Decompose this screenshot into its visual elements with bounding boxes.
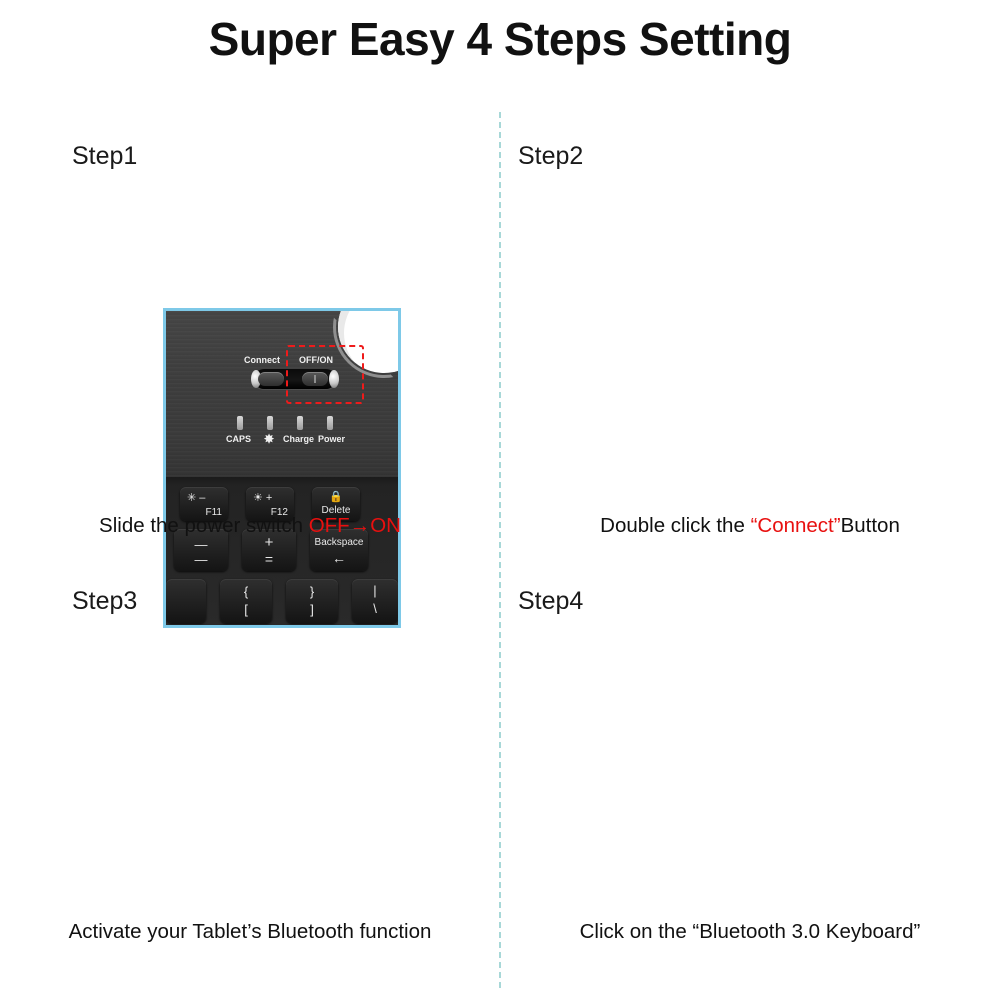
caption-highlight-2: “Connect”	[751, 514, 841, 537]
led-label-charge: Charge	[283, 434, 314, 444]
caption-prefix-2: Double click the	[600, 514, 750, 537]
highlight-box-offon	[286, 345, 364, 404]
key-icon-brightness-down: ✳ –	[187, 491, 205, 504]
caption-text-4: Click on the “Bluetooth 3.0 Keyboard”	[580, 920, 921, 943]
led-label-power: Power	[318, 434, 345, 444]
key-icon-brightness-up: ☀ +	[253, 491, 272, 504]
step-label-3: Step3	[72, 587, 137, 616]
lock-icon: 🔒	[312, 490, 360, 503]
key-label-minus: —	[174, 552, 228, 567]
led-power	[327, 416, 333, 430]
key-label-equals: =	[242, 551, 296, 567]
led-label-caps: CAPS	[226, 434, 251, 444]
step-cell-1: Step1 Connect OFF/ON	[0, 130, 500, 560]
page-title: Super Easy 4 Steps Setting	[0, 12, 1000, 66]
connect-knob[interactable]	[258, 372, 284, 386]
step-label-4: Step4	[518, 587, 583, 616]
backspace-arrow-icon: ←	[310, 550, 368, 566]
step-caption-3: Activate your Tablet’s Bluetooth functio…	[0, 920, 500, 944]
step-caption-4: Click on the “Bluetooth 3.0 Keyboard”	[500, 920, 1000, 944]
step-cell-3: Step3 ●●●○○ 中国移动 ▲ 16:38 ◎ ◑ 52%	[0, 575, 500, 990]
caption-prefix-1: Slide the power switch	[99, 514, 309, 537]
caption-highlight-1: OFF→ON	[309, 514, 401, 537]
connect-switch-label: Connect	[244, 355, 280, 365]
step-caption-2: Double click the “Connect”Button	[500, 514, 1000, 538]
led-caps	[237, 416, 243, 430]
bluetooth-icon: ✸	[264, 432, 274, 446]
step-cell-4: Step4 ●●●○○ 中国移动 ▲ 16:38 ◎ ◑ 52%	[500, 575, 1000, 990]
key-label-backspace: Backspace	[310, 537, 368, 548]
led-bluetooth	[267, 416, 273, 430]
key-icon-underscore: —	[174, 537, 228, 552]
caption-suffix-2: Button	[841, 514, 900, 537]
caption-text-3: Activate your Tablet’s Bluetooth functio…	[69, 920, 432, 943]
infographic-page: Super Easy 4 Steps Setting Step1 Connect…	[0, 0, 1000, 1000]
led-charge	[297, 416, 303, 430]
step-caption-1: Slide the power switch OFF→ON	[0, 514, 500, 538]
step-label-1: Step1	[72, 142, 137, 171]
step-label-2: Step2	[518, 142, 583, 171]
step-cell-2: Step2 Connect CAPS ✸ Cha	[500, 130, 1000, 560]
